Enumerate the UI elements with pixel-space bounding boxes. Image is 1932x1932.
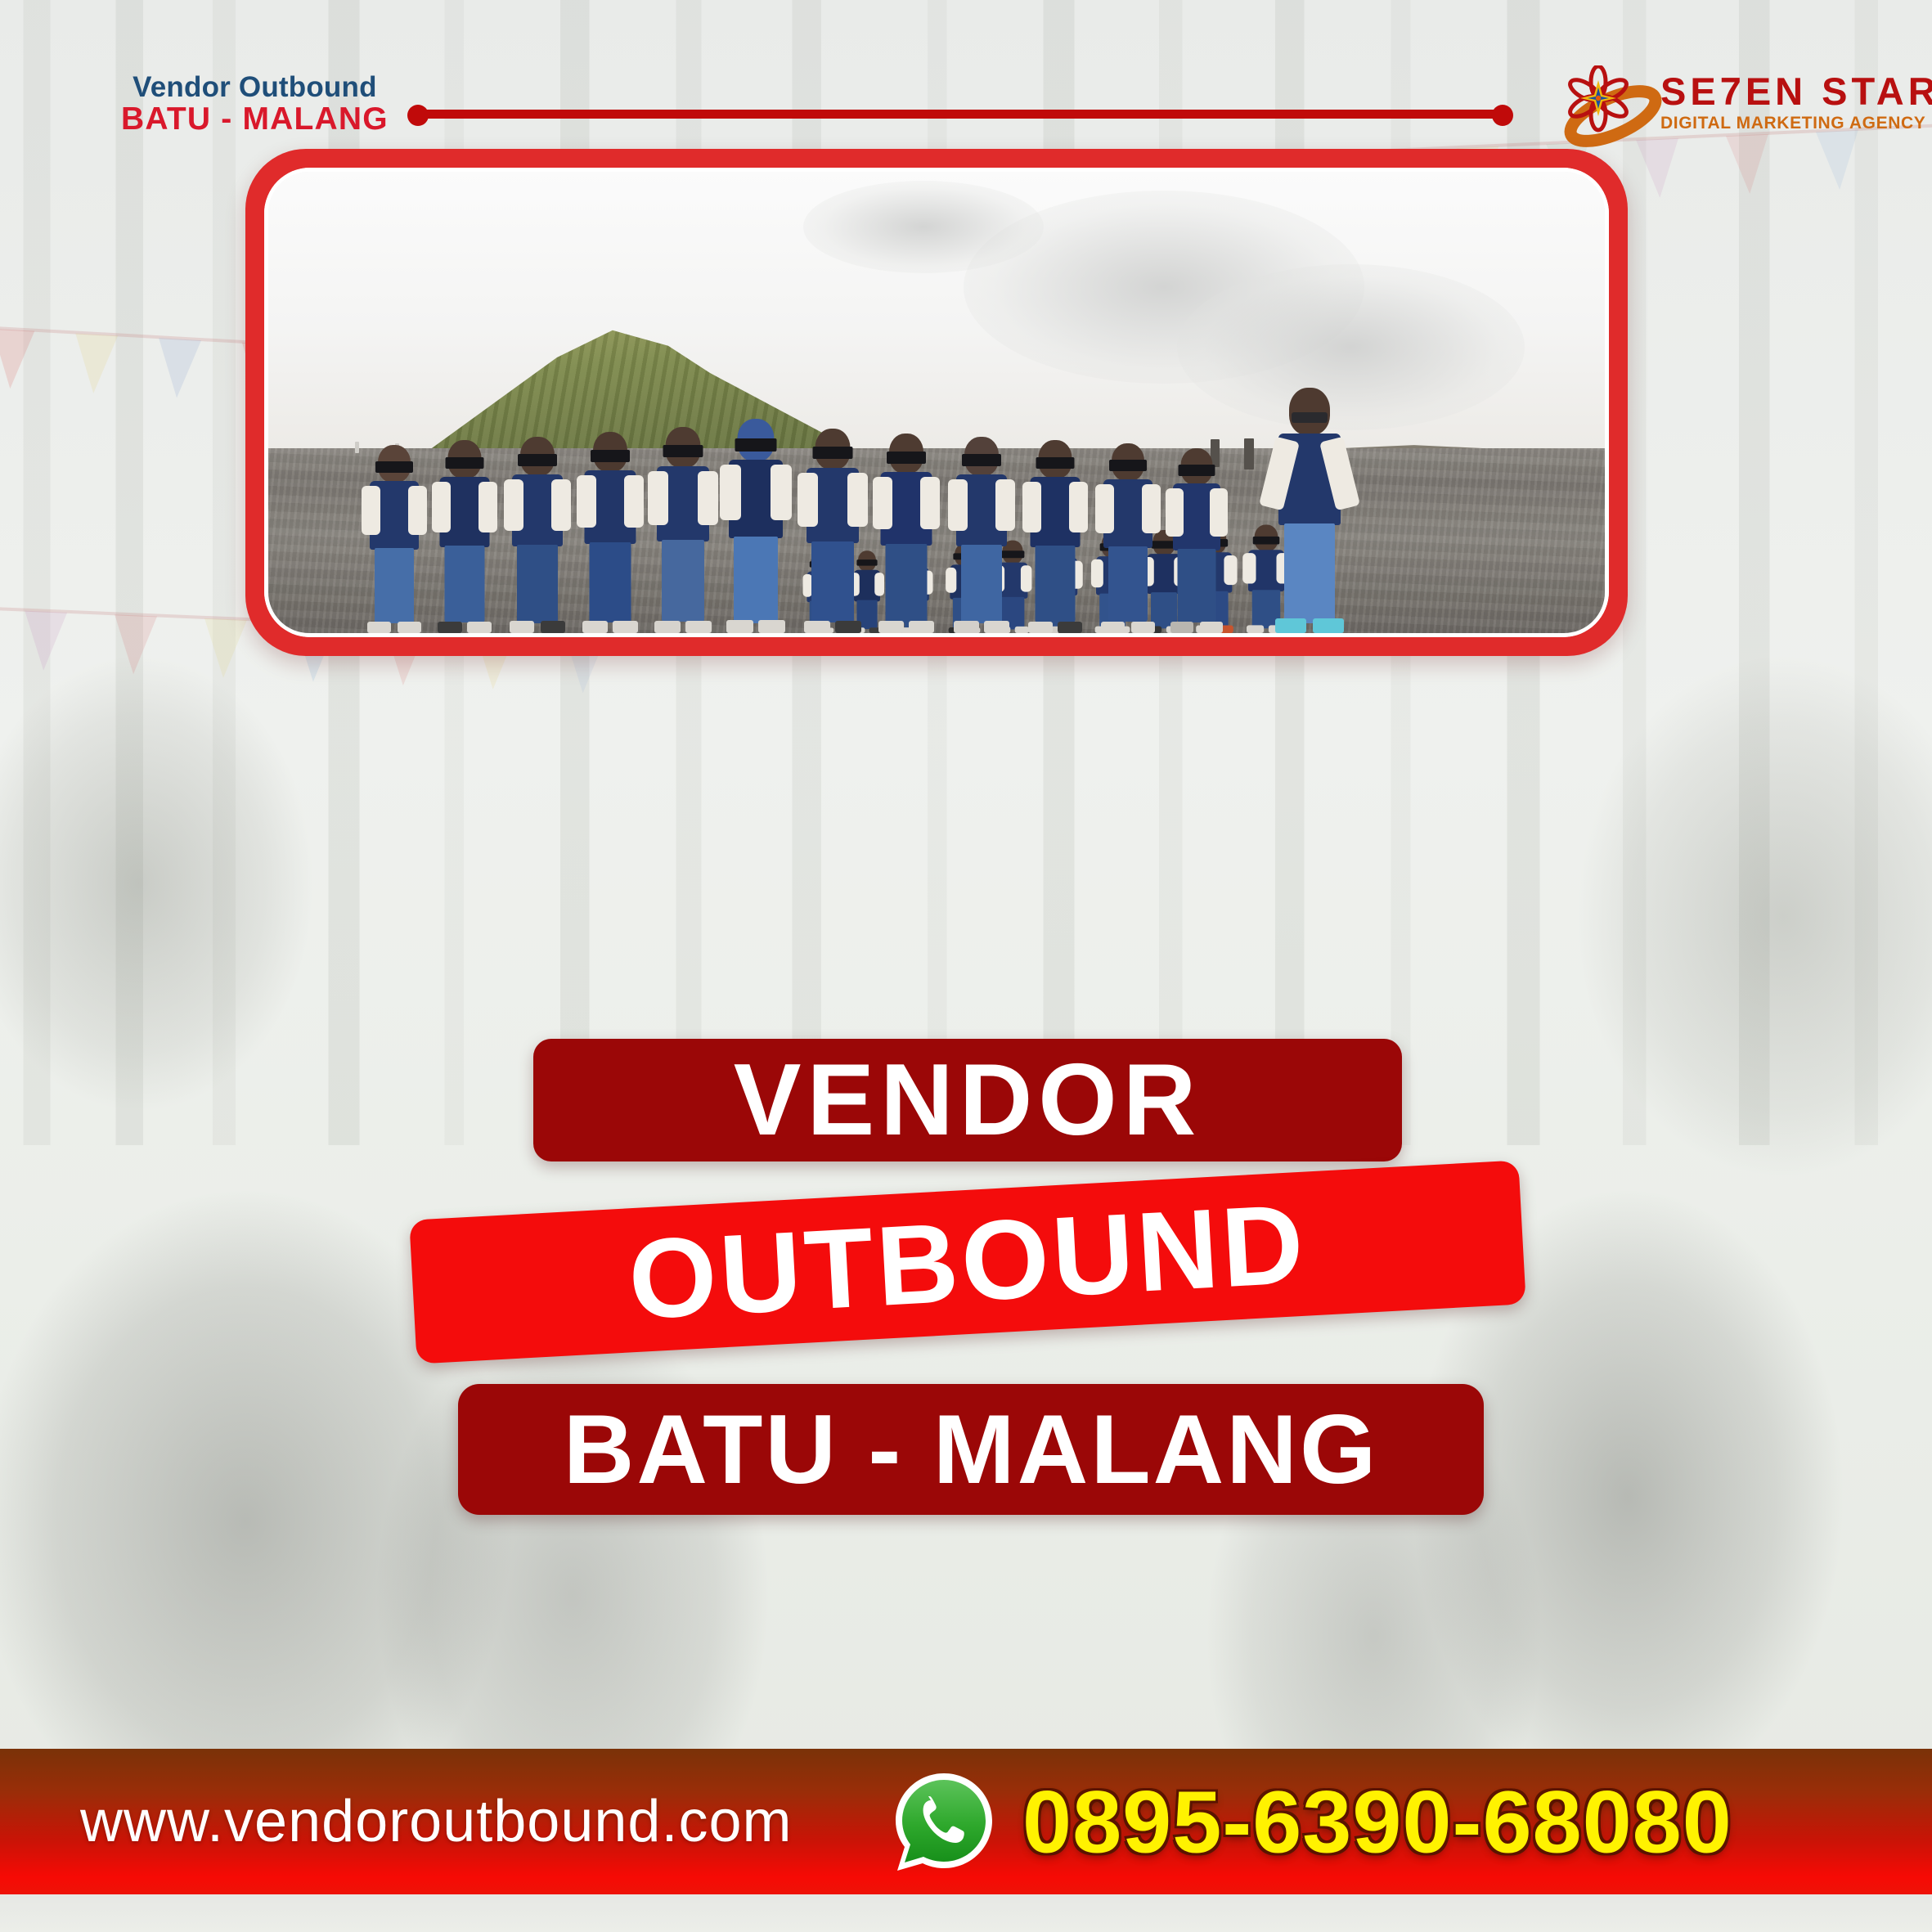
logo-wordmark: SE7EN STAR DIGITAL MARKETING AGENCY	[1660, 72, 1932, 132]
title-banner-vendor: VENDOR	[533, 1039, 1402, 1161]
bunting-flag	[0, 329, 34, 390]
photo-participant-leader	[728, 419, 784, 633]
brand-logo[interactable]: SE7EN STAR DIGITAL MARKETING AGENCY	[1561, 64, 1888, 149]
photo-participant	[806, 429, 860, 633]
phone-number[interactable]: 0895-6390-68080	[1022, 1771, 1732, 1873]
whatsapp-icon[interactable]	[892, 1769, 996, 1874]
bunting-flag	[22, 611, 67, 672]
header-divider-rule	[407, 105, 1513, 123]
bunting-flag	[112, 614, 157, 675]
header-title-block: Vendor Outbound BATU - MALANG	[121, 72, 389, 136]
footer-contact-bar: www.vendoroutbound.com 0895-6390-68080	[0, 1749, 1932, 1894]
photo-participant	[955, 437, 1008, 633]
photo-inner-border	[264, 168, 1609, 637]
logo-name: SE7EN STAR	[1660, 72, 1932, 110]
website-url[interactable]: www.vendoroutbound.com	[80, 1788, 793, 1855]
footer-under-strip	[0, 1894, 1932, 1932]
flower-star-swoosh-icon	[1561, 65, 1662, 147]
photo-participant	[439, 440, 490, 633]
title-text-vendor: VENDOR	[734, 1042, 1202, 1158]
photo-participant	[1172, 448, 1221, 633]
photo-participant	[1103, 443, 1153, 633]
title-text-outbound: OUTBOUND	[626, 1179, 1310, 1346]
header-line-2: BATU - MALANG	[121, 102, 389, 136]
title-text-location: BATU - MALANG	[564, 1393, 1379, 1506]
photo-participant	[584, 432, 636, 633]
photo-participant	[369, 445, 420, 633]
photo-frame	[245, 149, 1628, 656]
bunting-flag	[202, 618, 247, 679]
event-photo	[268, 172, 1605, 633]
photo-participant	[1030, 440, 1081, 633]
header-line-1: Vendor Outbound	[121, 72, 389, 102]
bunting-flag	[155, 338, 201, 399]
rule-bar	[425, 110, 1495, 119]
photo-participant	[880, 434, 932, 633]
photo-participant	[511, 437, 564, 633]
rule-dot-right-icon	[1492, 105, 1513, 126]
bunting-flag	[72, 333, 118, 394]
photo-participant	[656, 427, 710, 633]
poster-canvas: Vendor Outbound BATU - MALANG	[0, 0, 1932, 1932]
title-banner-location: BATU - MALANG	[458, 1384, 1484, 1515]
photo-facilitator	[1278, 388, 1341, 633]
logo-tagline: DIGITAL MARKETING AGENCY	[1660, 115, 1932, 132]
photo-participant-line	[268, 172, 1605, 633]
